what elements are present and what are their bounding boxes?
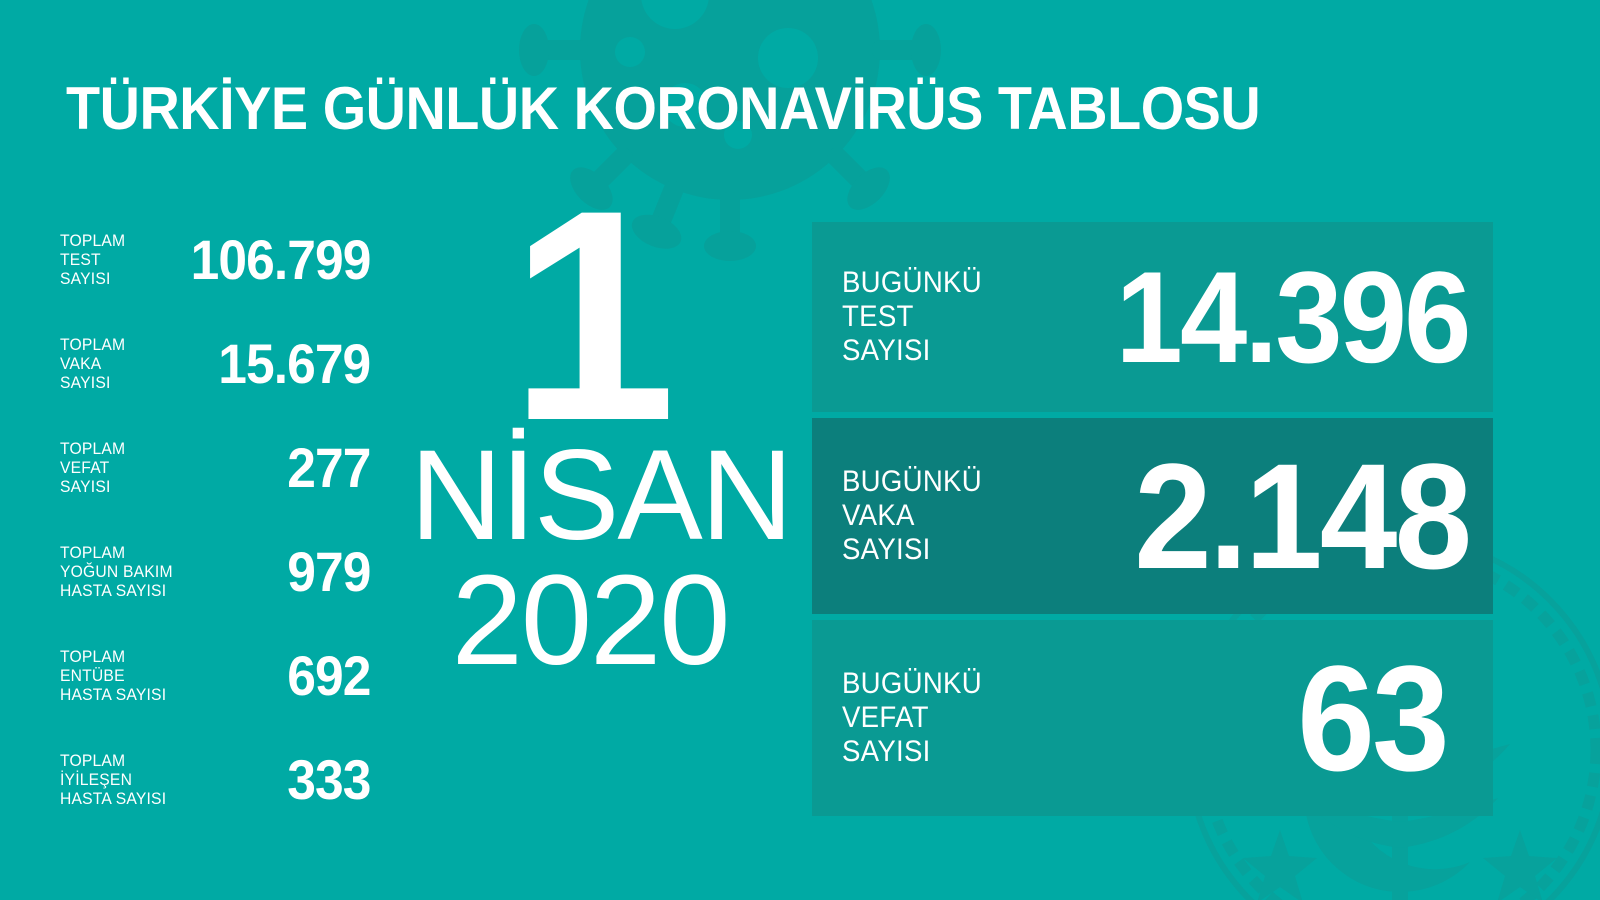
total-stats-column: TOPLAM TEST SAYISI 106.799 TOPLAM VAKA S… <box>60 208 370 832</box>
stat-label: TOPLAM VEFAT SAYISI <box>60 440 125 497</box>
panel-label: BUGÜNKÜ VAKA SAYISI <box>842 465 982 567</box>
stat-value: 277 <box>287 440 370 496</box>
stat-row-toplam-vefat: TOPLAM VEFAT SAYISI 277 <box>60 416 370 520</box>
date-month: NİSAN <box>410 434 770 558</box>
stat-row-toplam-yogun-bakim: TOPLAM YOĞUN BAKIM HASTA SAYISI 979 <box>60 520 370 624</box>
stat-label: TOPLAM ENTÜBE HASTA SAYISI <box>60 648 166 705</box>
stat-label-line: TOPLAM <box>60 232 125 251</box>
stat-label-line: SAYISI <box>60 478 125 497</box>
stat-label-line: TOPLAM <box>60 752 166 771</box>
stat-value: 692 <box>287 648 370 704</box>
stat-label-line: VAKA <box>60 355 125 374</box>
panel-label-line: VAKA <box>842 499 982 533</box>
stat-label-line: VEFAT <box>60 459 125 478</box>
stat-label-line: TEST <box>60 251 125 270</box>
panel-label: BUGÜNKÜ TEST SAYISI <box>842 266 982 368</box>
panel-label-line: SAYISI <box>842 334 982 368</box>
panel-value: 14.396 <box>1116 252 1469 382</box>
panel-label-line: SAYISI <box>842 533 982 567</box>
stat-value: 106.799 <box>190 232 370 288</box>
stat-label-line: YOĞUN BAKIM <box>60 563 173 582</box>
stat-label-line: TOPLAM <box>60 544 173 563</box>
stat-value: 333 <box>287 752 370 808</box>
stat-label-line: HASTA SAYISI <box>60 582 173 601</box>
stat-label-line: TOPLAM <box>60 648 166 667</box>
stat-label-line: TOPLAM <box>60 336 125 355</box>
panel-value: 2.148 <box>1134 441 1469 591</box>
stat-label: TOPLAM VAKA SAYISI <box>60 336 125 393</box>
stat-value: 979 <box>287 544 370 600</box>
panel-label-line: VEFAT <box>842 701 982 735</box>
panel-label-line: BUGÜNKÜ <box>842 465 982 499</box>
panel-label-line: BUGÜNKÜ <box>842 266 982 300</box>
today-stats-column: BUGÜNKÜ TEST SAYISI 14.396 BUGÜNKÜ VAKA … <box>812 222 1493 816</box>
stat-label-line: İYİLEŞEN <box>60 771 166 790</box>
panel-bugunku-test: BUGÜNKÜ TEST SAYISI 14.396 <box>812 222 1493 412</box>
stat-label-line: HASTA SAYISI <box>60 790 166 809</box>
stat-row-toplam-test: TOPLAM TEST SAYISI 106.799 <box>60 208 370 312</box>
infographic-poster: TÜRKİYE GÜNLÜK KORONAVİRÜS TABLOSU TOPLA… <box>0 0 1600 900</box>
panel-value: 63 <box>1297 643 1447 793</box>
stat-label-line: SAYISI <box>60 374 125 393</box>
date-year: 2020 <box>410 558 770 684</box>
stat-label-line: SAYISI <box>60 270 125 289</box>
panel-label-line: BUGÜNKÜ <box>842 667 982 701</box>
stat-label-line: ENTÜBE <box>60 667 166 686</box>
date-day: 1 <box>410 196 770 434</box>
panel-label-line: SAYISI <box>842 735 982 769</box>
stat-value: 15.679 <box>218 336 370 392</box>
stat-label: TOPLAM İYİLEŞEN HASTA SAYISI <box>60 752 166 809</box>
stat-label: TOPLAM TEST SAYISI <box>60 232 125 289</box>
stat-label-line: HASTA SAYISI <box>60 686 166 705</box>
panel-bugunku-vefat: BUGÜNKÜ VEFAT SAYISI 63 <box>812 620 1493 816</box>
panel-label: BUGÜNKÜ VEFAT SAYISI <box>842 667 982 769</box>
panel-label-line: TEST <box>842 300 982 334</box>
stat-label: TOPLAM YOĞUN BAKIM HASTA SAYISI <box>60 544 173 601</box>
page-title: TÜRKİYE GÜNLÜK KORONAVİRÜS TABLOSU <box>66 78 1260 140</box>
stat-row-toplam-entube: TOPLAM ENTÜBE HASTA SAYISI 692 <box>60 624 370 728</box>
stat-label-line: TOPLAM <box>60 440 125 459</box>
date-block: 1 NİSAN 2020 <box>410 196 770 684</box>
panel-bugunku-vaka: BUGÜNKÜ VAKA SAYISI 2.148 <box>812 418 1493 614</box>
stat-row-toplam-iyilesen: TOPLAM İYİLEŞEN HASTA SAYISI 333 <box>60 728 370 832</box>
stat-row-toplam-vaka: TOPLAM VAKA SAYISI 15.679 <box>60 312 370 416</box>
